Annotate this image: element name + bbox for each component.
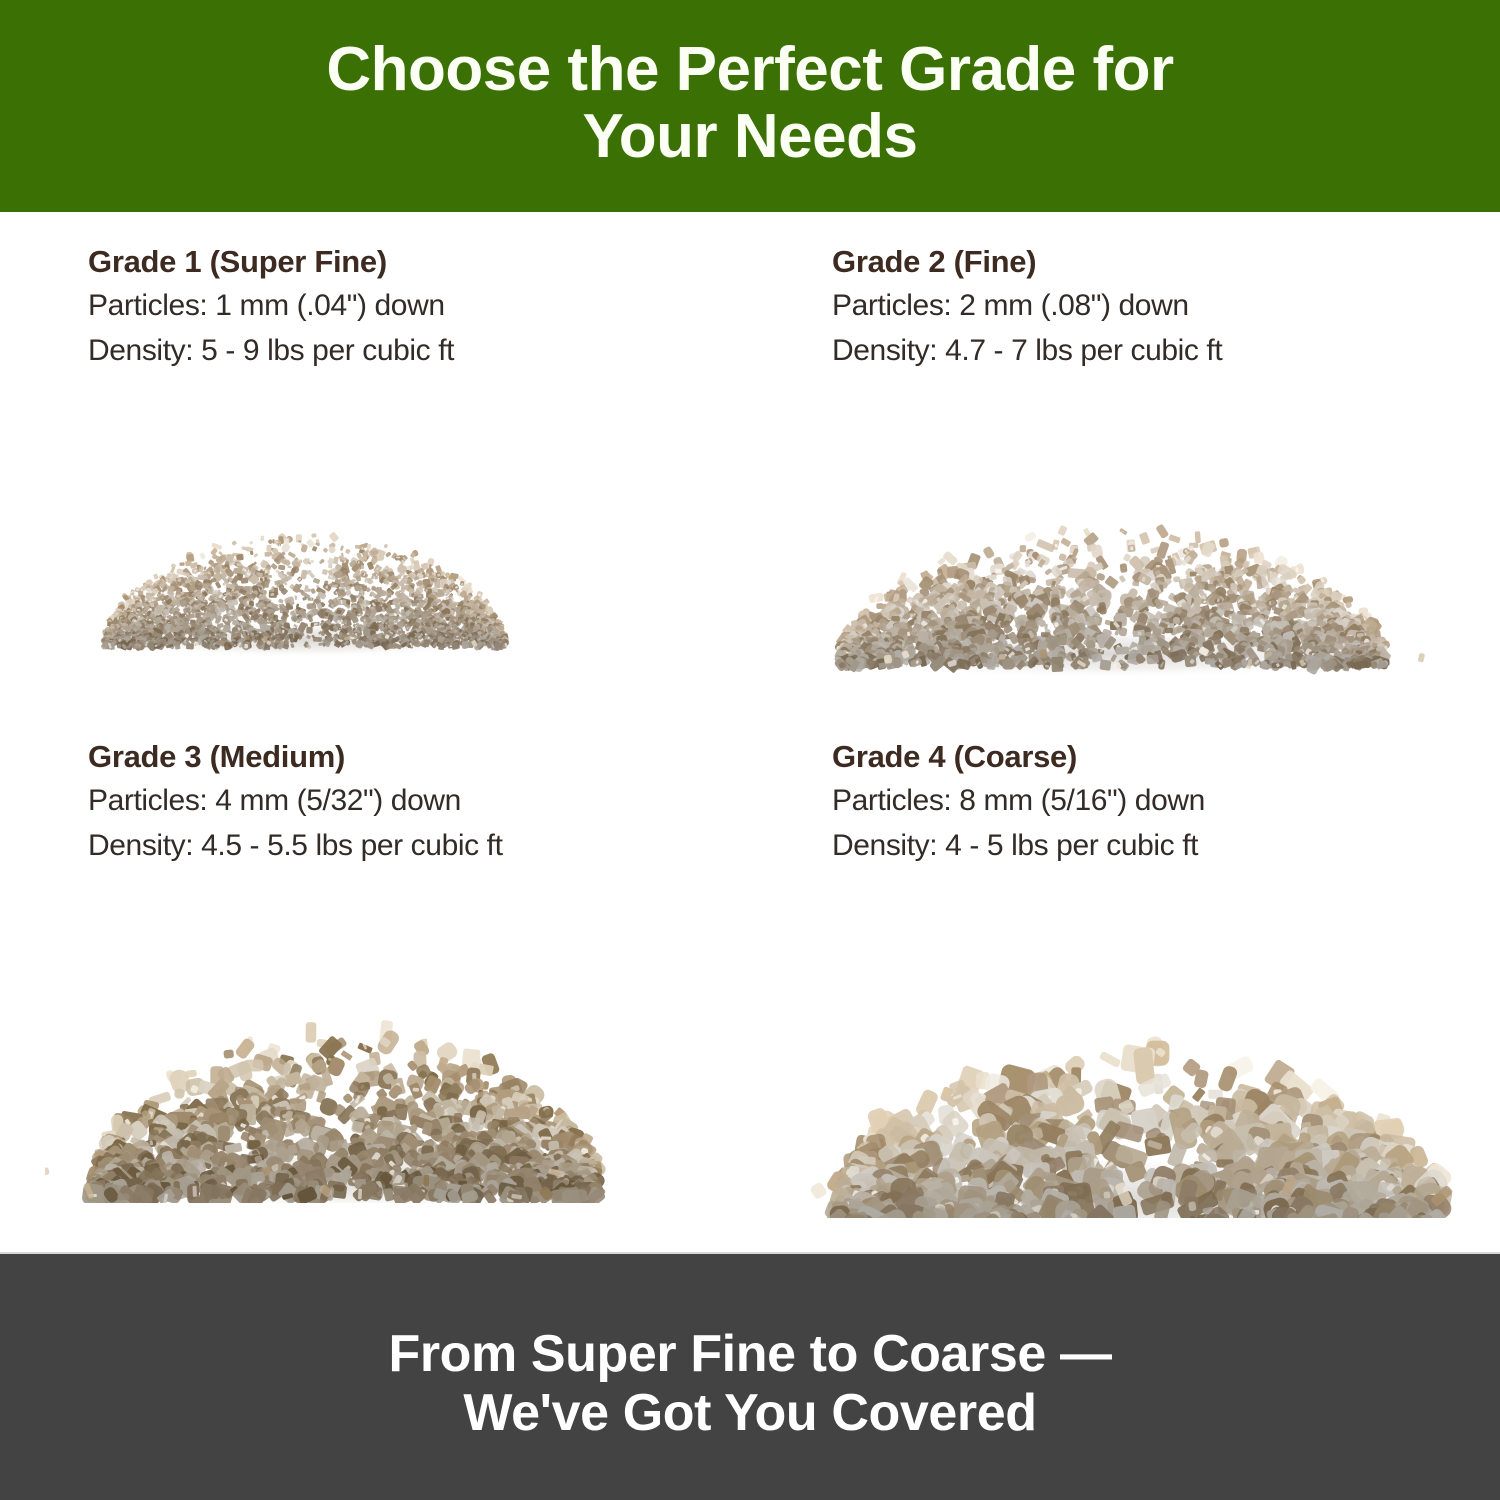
page-title-line-1: Choose the Perfect Grade for [326,35,1173,104]
grade-card-1-density: Density: 5 - 9 lbs per cubic ft [88,330,728,373]
vermiculite-pile-image-4 [767,898,1500,1218]
vermiculite-pile-image-1 [70,393,540,663]
grade-card-1-text: Grade 1 (Super Fine) Particles: 1 mm (.0… [88,244,728,374]
grade-card-2-title: Grade 2 (Fine) [832,244,1472,280]
pile-svg [767,898,1500,1218]
grade-card-4: Grade 4 (Coarse) Particles: 8 mm (5/16")… [762,713,1462,1213]
grade-card-2: Grade 2 (Fine) Particles: 2 mm (.08") do… [762,218,1462,718]
grade-card-3-text: Grade 3 (Medium) Particles: 4 mm (5/32")… [88,739,728,869]
page-title: Choose the Perfect Grade for Your Needs [210,37,1290,175]
footer-tagline-line-2: We've Got You Covered [463,1384,1036,1442]
pile-svg [70,393,540,663]
pile-svg [45,873,645,1203]
page-title-line-2: Your Needs [583,102,918,171]
grade-card-1: Grade 1 (Super Fine) Particles: 1 mm (.0… [20,218,720,718]
grade-card-1-particles: Particles: 1 mm (.04") down [88,285,728,328]
grade-card-4-text: Grade 4 (Coarse) Particles: 8 mm (5/16")… [832,739,1472,869]
pile-svg [792,378,1432,678]
grade-card-4-density: Density: 4 - 5 lbs per cubic ft [832,825,1472,868]
grade-card-3-particles: Particles: 4 mm (5/32") down [88,780,728,823]
footer-tagline-line-1: From Super Fine to Coarse — [388,1325,1111,1383]
grade-card-3-title: Grade 3 (Medium) [88,739,728,775]
grade-card-4-title: Grade 4 (Coarse) [832,739,1472,775]
vermiculite-pile-image-2 [792,378,1432,678]
grade-card-1-title: Grade 1 (Super Fine) [88,244,728,280]
grade-card-3: Grade 3 (Medium) Particles: 4 mm (5/32")… [20,713,720,1213]
footer-tagline: From Super Fine to Coarse — We've Got Yo… [150,1311,1350,1444]
grade-card-2-density: Density: 4.7 - 7 lbs per cubic ft [832,330,1472,373]
vermiculite-pile-image-3 [45,873,645,1203]
grade-card-4-particles: Particles: 8 mm (5/16") down [832,780,1472,823]
grade-card-3-density: Density: 4.5 - 5.5 lbs per cubic ft [88,825,728,868]
header-banner: Choose the Perfect Grade for Your Needs [0,0,1500,212]
grade-card-2-text: Grade 2 (Fine) Particles: 2 mm (.08") do… [832,244,1472,374]
grade-grid: Grade 1 (Super Fine) Particles: 1 mm (.0… [0,212,1500,1254]
grade-card-2-particles: Particles: 2 mm (.08") down [832,285,1472,328]
footer-banner: From Super Fine to Coarse — We've Got Yo… [0,1254,1500,1500]
